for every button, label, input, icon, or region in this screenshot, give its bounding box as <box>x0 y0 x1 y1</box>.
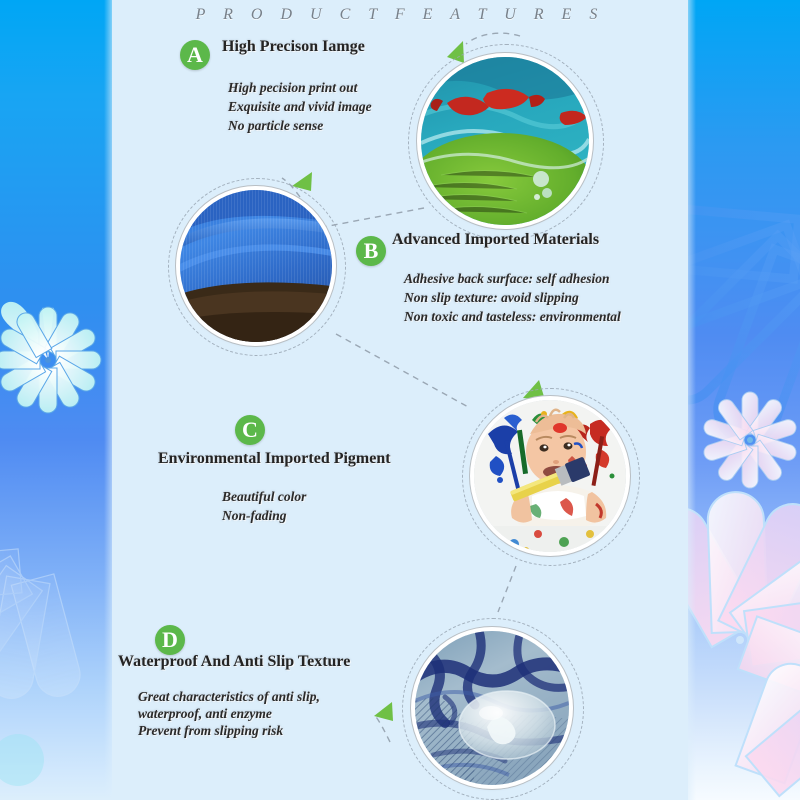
badge-b: B <box>356 236 386 266</box>
feature-line-d-3: Prevent from slipping risk <box>138 721 283 740</box>
feature-line-a-2: Exquisite and vivid image <box>228 97 372 116</box>
feature-title-d: Waterproof And Anti Slip Texture <box>118 653 350 671</box>
feature-title-c: Environmental Imported Pigment <box>158 450 391 468</box>
feature-line-b-3: Non toxic and tasteless: environmental <box>404 307 621 326</box>
photo-blue-fabric-roll <box>180 190 332 342</box>
badge-d: D <box>155 625 185 655</box>
dashed-connector-cd <box>498 566 516 612</box>
dashed-connector-a <box>466 33 520 44</box>
feature-line-a-1: High pecision print out <box>228 78 357 97</box>
feature-title-b: Advanced Imported Materials <box>392 231 599 249</box>
photo-koi-fish-lilypad <box>421 57 589 225</box>
feature-line-a-3: No particle sense <box>228 116 323 135</box>
photo-water-droplet-texture <box>415 631 569 785</box>
badge-a: A <box>180 40 210 70</box>
photo-a <box>421 57 589 225</box>
feature-line-c-1: Beautiful color <box>222 487 306 506</box>
photo-d <box>415 631 569 785</box>
feature-line-b-2: Non slip texture: avoid slipping <box>404 288 579 307</box>
photo-c <box>474 400 626 552</box>
product-features-page: P R O D U C T F E A T U R E S <box>0 0 800 800</box>
photo-b <box>180 190 332 342</box>
photo-baby-painting <box>474 400 626 552</box>
dashed-connector-bc <box>336 334 470 408</box>
badge-c: C <box>235 415 265 445</box>
connector-layer <box>0 0 800 800</box>
feature-line-b-1: Adhesive back surface: self adhesion <box>404 269 609 288</box>
feature-line-c-2: Non-fading <box>222 506 287 525</box>
feature-title-a: High Precison Iamge <box>222 38 365 56</box>
